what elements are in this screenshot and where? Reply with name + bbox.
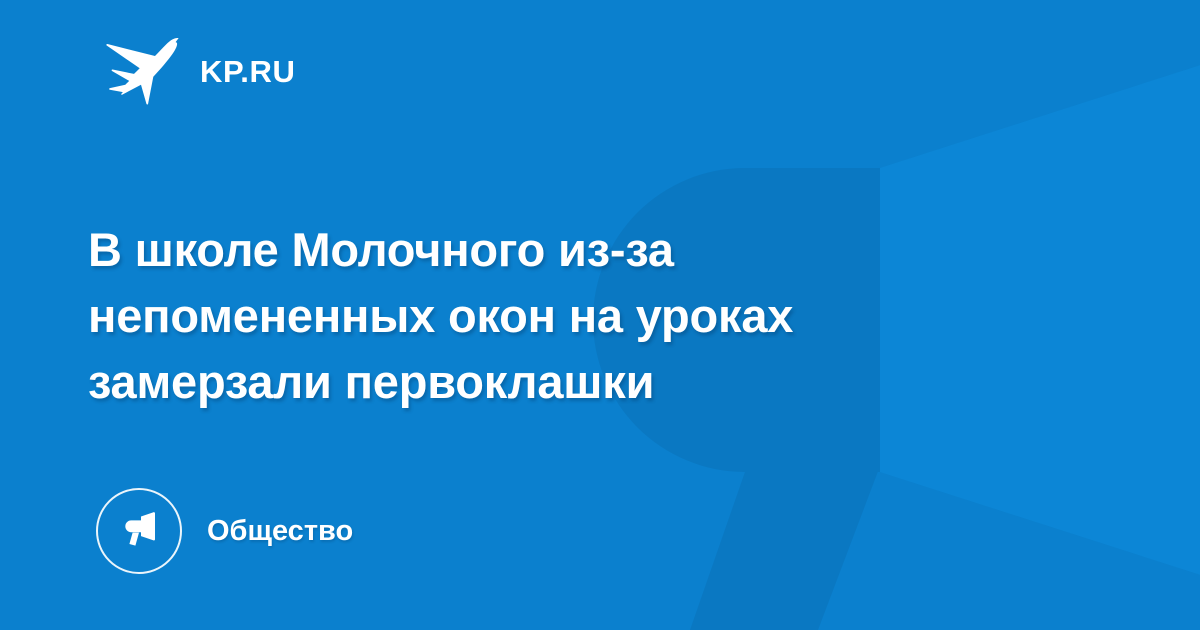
- swallow-bird-icon: [104, 35, 182, 105]
- social-share-card: KP.RU В школе Молочного из-за непомененн…: [0, 0, 1200, 630]
- megaphone-icon: [96, 488, 182, 574]
- category-label: Общество: [207, 517, 353, 546]
- brand-name: KP.RU: [200, 54, 295, 87]
- brand-header[interactable]: KP.RU: [104, 34, 295, 106]
- headline-title: В школе Молочного из-за непомененных око…: [88, 217, 1018, 415]
- category-badge[interactable]: Общество: [96, 488, 353, 574]
